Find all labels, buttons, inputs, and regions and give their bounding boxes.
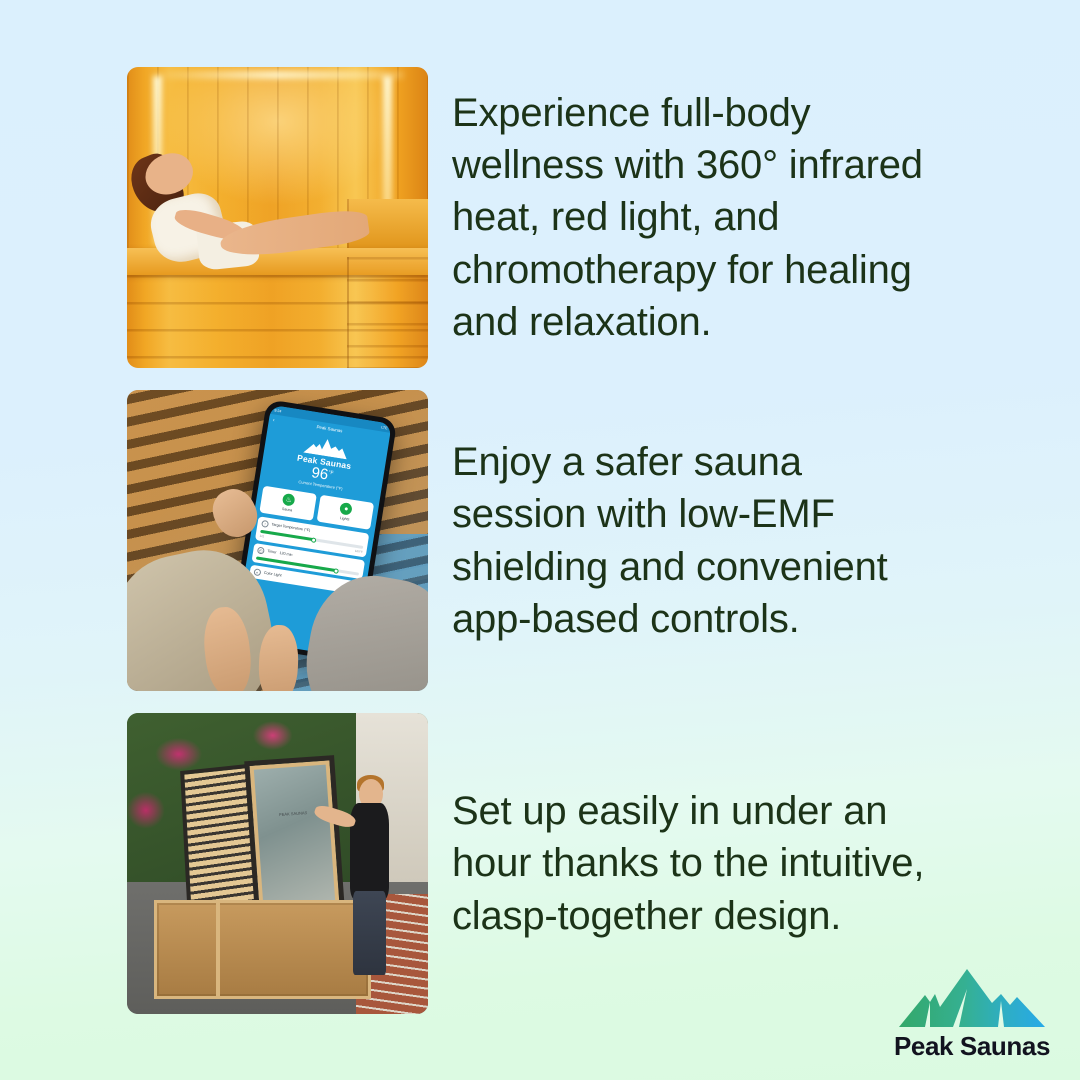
timer-value: 120 min xyxy=(280,551,294,557)
temperature-unit: °F xyxy=(328,470,334,477)
temp-min-label: 111 xyxy=(260,534,265,539)
man-torso xyxy=(350,803,389,899)
lights-toggle-label: Lights xyxy=(340,516,350,521)
temp-max-label: 160°F xyxy=(355,549,364,554)
feature-text: Enjoy a safer sauna session with low-EMF… xyxy=(452,436,932,646)
phone-app-photo: 9:24 LTE ‹ Peak Saunas Peak Saunas 96° xyxy=(127,390,428,691)
sauna-ceiling-glow xyxy=(147,71,404,79)
color-light-label: Color Light xyxy=(264,571,282,578)
feature-row: PEAK SAUNAS Set up easily in under an ho… xyxy=(127,713,957,1014)
sauna-toggle-label: Sauna xyxy=(282,507,293,513)
feature-row: Experience full-body wellness with 360° … xyxy=(127,67,957,368)
sauna-interior-photo xyxy=(127,67,428,368)
target-temperature-label: Target Temperature (°F) xyxy=(272,523,311,533)
woman-legs xyxy=(218,207,371,262)
wooden-shipping-crate xyxy=(154,900,371,999)
feature-text: Experience full-body wellness with 360° … xyxy=(452,87,932,349)
timer-label: Timer xyxy=(267,549,277,554)
feature-text: Set up easily in under an hour thanks to… xyxy=(452,785,932,942)
app-title: Peak Saunas xyxy=(317,424,344,433)
reclining-woman xyxy=(133,151,374,283)
status-signal: LTE xyxy=(381,425,388,430)
clock-icon: ◴ xyxy=(257,546,265,554)
thermometer-icon: ↑ xyxy=(262,520,270,528)
slider-knob[interactable] xyxy=(334,568,340,574)
crate-delivery-photo: PEAK SAUNAS xyxy=(127,713,428,1014)
status-time: 9:24 xyxy=(275,408,283,413)
man-legs xyxy=(353,891,386,975)
chevron-left-icon[interactable]: ‹ xyxy=(273,417,276,423)
brand-name: Peak Saunas xyxy=(894,1031,1050,1062)
palette-icon: ◐ xyxy=(254,568,262,576)
mountain-icon xyxy=(897,967,1047,1029)
bulb-icon: ● xyxy=(340,502,354,516)
brand-logo: Peak Saunas xyxy=(894,967,1050,1062)
panel-logo-mark: PEAK SAUNAS xyxy=(279,810,308,817)
feature-row: 9:24 LTE ‹ Peak Saunas Peak Saunas 96° xyxy=(127,390,957,691)
feature-list: Experience full-body wellness with 360° … xyxy=(127,67,957,1014)
sauna-heater-icon: ♨ xyxy=(282,493,296,507)
